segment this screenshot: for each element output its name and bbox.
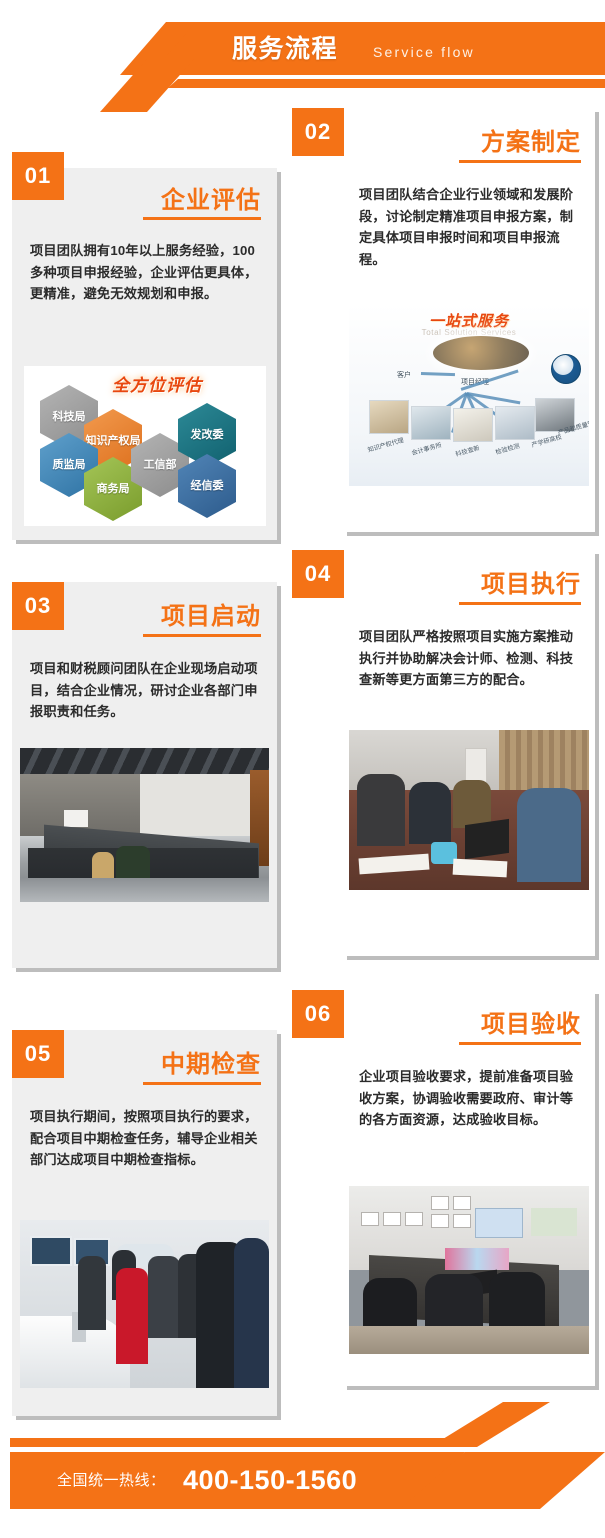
one-stop-label-4: 检验检测 — [494, 441, 520, 456]
step-title-06: 项目验收 — [381, 1004, 581, 1039]
step-card-01: 企业评估 项目团队拥有10年以上服务经验，100多种项目申报经验，企业评估更具体… — [12, 168, 277, 540]
photo-ceiling-03 — [20, 748, 269, 774]
hotline-label: 全国统一热线： — [57, 1467, 166, 1495]
photo-screen-a-05 — [30, 1236, 72, 1266]
photo-cert-2-06 — [383, 1212, 401, 1226]
photo-cert-4-06 — [431, 1196, 449, 1210]
step-title-04: 项目执行 — [381, 564, 581, 599]
title-rule-03 — [143, 634, 261, 637]
title-rule-02 — [459, 160, 581, 163]
step-badge-05: 05 — [12, 1030, 64, 1078]
title-rule-04 — [459, 602, 581, 605]
step-card-04: 项目执行 项目团队严格按照项目实施方案推动执行并协助解决会计师、检测、科技查新等… — [343, 550, 595, 956]
photo-cert-5-06 — [453, 1196, 471, 1210]
page-subtitle: Service flow — [373, 37, 475, 67]
one-stop-label-3: 科技查新 — [454, 443, 480, 458]
title-rule-05 — [143, 1082, 261, 1085]
footer-stripe — [10, 1438, 465, 1447]
step-body-04: 项目团队严格按照项目实施方案推动执行并协助解决会计师、检测、科技查新等更方面第三… — [359, 626, 583, 691]
page-title: 服务流程 — [232, 28, 338, 70]
figure-photo-06 — [349, 1186, 589, 1354]
photo-person-f-05 — [234, 1238, 269, 1388]
photo-floor-06 — [349, 1326, 589, 1354]
step-card-05: 中期检查 项目执行期间，按照项目执行的要求，配合项目中期检查任务，辅导企业相关部… — [12, 1030, 277, 1416]
step-badge-06: 06 — [292, 990, 344, 1038]
step-title-05: 中期检查 — [71, 1044, 261, 1079]
footer-stripe-tail — [430, 1402, 550, 1447]
step-badge-01: 01 — [12, 152, 64, 200]
one-stop-arrow-client — [421, 372, 455, 376]
step-body-01: 项目团队拥有10年以上服务经验，100多种项目申报经验，企业评估更具体，更精准，… — [30, 240, 260, 305]
photo-cert-3-06 — [405, 1212, 423, 1226]
figure-one-stop-service: 一站式服务 Total Solution Services 客户 项目经理 知识… — [349, 304, 589, 486]
header-stripe — [168, 79, 605, 88]
step-body-03: 项目和财税顾问团队在企业现场启动项目，结合企业情况，研讨企业各部门申报职责和任务… — [30, 658, 260, 723]
photo-ac-unit-04 — [465, 748, 487, 784]
one-stop-node-4 — [495, 406, 535, 440]
photo-cert-1-06 — [361, 1212, 379, 1226]
photo-person-red-05 — [116, 1268, 148, 1364]
photo-board-06 — [531, 1208, 577, 1236]
photo-flowers-06 — [445, 1248, 509, 1270]
one-stop-seal-icon — [551, 354, 581, 384]
step-title-01: 企业评估 — [71, 180, 261, 215]
figure-photo-04 — [349, 730, 589, 890]
photo-papers2-04 — [453, 859, 508, 878]
photo-person-a-04 — [357, 774, 405, 846]
one-stop-label-2: 会计事务所 — [410, 440, 442, 457]
step-card-03: 项目启动 项目和财税顾问团队在企业现场启动项目，结合企业情况，研讨企业各部门申报… — [12, 582, 277, 968]
photo-whiteboard-03 — [64, 810, 88, 827]
one-stop-label-1: 知识产权代理 — [366, 435, 404, 454]
hexagon-caption: 全方位评估 — [112, 371, 202, 396]
step-body-05: 项目执行期间，按照项目执行的要求，配合项目中期检查任务，辅导企业相关部门达成项目… — [30, 1106, 260, 1171]
step-badge-04: 04 — [292, 550, 344, 598]
step-card-02: 方案制定 项目团队结合企业行业领域和发展阶段，讨论制定精准项目申报方案，制定具体… — [343, 108, 595, 532]
figure-photo-03 — [20, 748, 269, 902]
one-stop-node-3 — [453, 408, 493, 442]
title-rule-01 — [143, 217, 261, 220]
step-badge-03: 03 — [12, 582, 64, 630]
step-badge-02: 02 — [292, 108, 344, 156]
photo-cert-7-06 — [453, 1214, 471, 1228]
photo-cert-6-06 — [431, 1214, 449, 1228]
photo-floor-03 — [20, 878, 269, 902]
title-rule-06 — [459, 1042, 581, 1045]
step-card-06: 项目验收 企业项目验收要求，提前准备项目验收方案，协调验收需要政府、审计等的各方… — [343, 990, 595, 1386]
photo-person-d-04 — [517, 788, 581, 882]
service-flow-poster: 服务流程 Service flow 01 企业评估 项目团队拥有10年以上服务经… — [0, 0, 605, 1538]
step-title-02: 方案制定 — [381, 122, 581, 157]
photo-person-a-05 — [78, 1256, 106, 1330]
photo-projection-06 — [475, 1208, 523, 1238]
one-stop-client-label: 客户 — [397, 370, 411, 380]
figure-hexagon-chart: 全方位评估 科技局 知识产权局 质监局 商务局 工信部 发改委 经信委 — [24, 366, 266, 526]
page-header: 服务流程 Service flow — [0, 0, 605, 112]
photo-laptop-04 — [465, 819, 509, 859]
one-stop-node-1 — [369, 400, 409, 434]
photo-person-b-04 — [409, 782, 451, 844]
photo-person-c-05 — [148, 1256, 180, 1338]
one-stop-hub-photo — [433, 336, 529, 370]
hotline-phone[interactable]: 400-150-1560 — [183, 1462, 357, 1498]
photo-wall-right-03 — [140, 774, 250, 836]
photo-person-c-04 — [453, 780, 491, 828]
one-stop-node-2 — [411, 406, 451, 440]
figure-photo-05 — [20, 1220, 269, 1388]
step-body-02: 项目团队结合企业行业领域和发展阶段，讨论制定精准项目申报方案，制定具体项目申报时… — [359, 184, 581, 270]
step-title-03: 项目启动 — [71, 596, 261, 631]
step-body-06: 企业项目验收要求，提前准备项目验收方案，协调验收需要政府、审计等的各方面资源，达… — [359, 1066, 583, 1131]
